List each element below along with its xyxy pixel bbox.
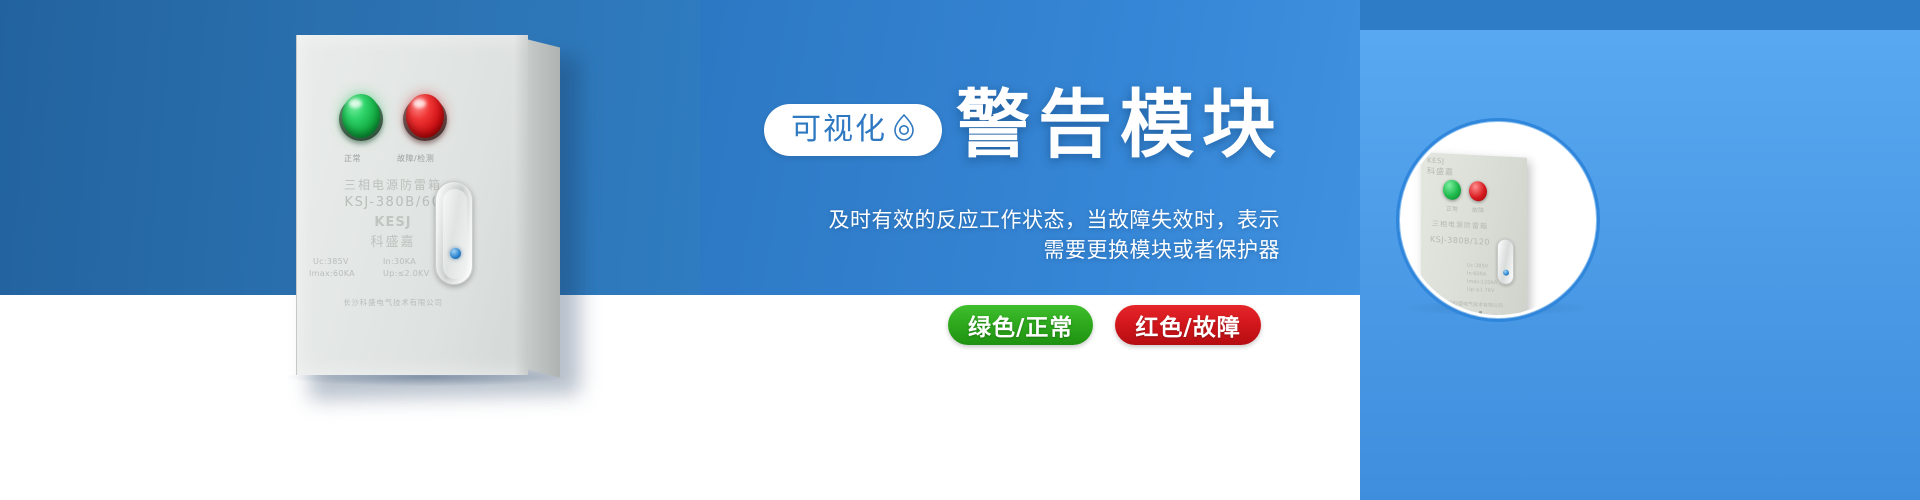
banner-subtitle: 及时有效的反应工作状态，当故障失效时，表示 需要更换模块或者保护器	[620, 205, 1280, 266]
device-module-slot	[435, 181, 473, 285]
status-chip-normal: 绿色/正常	[948, 305, 1093, 345]
inset-spec-in: In:60KA	[1467, 271, 1486, 278]
inset-brand-cn: 科盛嘉	[1427, 166, 1454, 178]
status-chip-group: 绿色/正常 红色/故障	[948, 305, 1261, 345]
inset-lamp-label-normal: 正常	[1439, 203, 1465, 213]
inset-company: 长沙科盛电气技术有限公司	[1423, 298, 1523, 310]
lamp-label-normal: 正常	[344, 153, 361, 164]
inset-spec-up: Up:≤1.7KV	[1467, 287, 1494, 294]
inset-module-slot	[1497, 238, 1514, 285]
promo-banner: 正常 故障/检测 三相电源防雷箱 KSJ-380B/60 KESJ 科盛嘉 Uc…	[0, 0, 1920, 500]
lamp-highlight-red	[413, 99, 426, 108]
lamp-label-fault: 故障/检测	[397, 153, 434, 164]
inset-brand-en: KESJ	[1427, 157, 1445, 166]
inset-product-name: 三相电源防雷箱	[1427, 219, 1493, 232]
inset-slot-indicator	[1503, 270, 1509, 276]
background-blue-right-top	[1360, 0, 1920, 30]
inset-device-front: KESJ 科盛嘉 正常 故障 三相电源防雷箱 KSJ-380B/120 Uc:3…	[1421, 152, 1527, 316]
device-spec-imax: Imax:60KA	[309, 269, 355, 278]
device-side-panel	[524, 39, 560, 378]
inset-lamp-label-fault: 故障	[1465, 205, 1491, 215]
device-spec-up: Up:≤2.0KV	[383, 269, 429, 278]
inset-product-circle: KESJ 科盛嘉 正常 故障 三相电源防雷箱 KSJ-380B/120 Uc:3…	[1400, 122, 1596, 318]
device-spec-uc: Uc:385V	[313, 257, 349, 266]
device-spec-in: In:30KA	[383, 257, 416, 266]
banner-subtitle-line-2: 需要更换模块或者保护器	[620, 235, 1280, 265]
status-chip-fault: 红色/故障	[1115, 305, 1260, 345]
device-front-panel: 正常 故障/检测 三相电源防雷箱 KSJ-380B/60 KESJ 科盛嘉 Uc…	[296, 35, 528, 375]
banner-title: 警告模块	[956, 88, 1284, 162]
inset-spec-imax: Imax:120KA	[1467, 279, 1497, 287]
visualization-badge-label: 可视化	[791, 115, 887, 145]
lamp-highlight-green	[349, 99, 362, 108]
indicator-lamp-green	[339, 93, 383, 141]
banner-subtitle-line-1: 及时有效的反应工作状态，当故障失效时，表示	[620, 205, 1280, 235]
indicator-lamp-red	[403, 93, 447, 141]
device-slot-inner	[443, 189, 467, 279]
inset-model: KSJ-380B/120	[1423, 234, 1497, 247]
inset-spec-uc: Uc:385V	[1467, 263, 1488, 270]
inset-lamp-red	[1469, 181, 1487, 202]
product-device-main: 正常 故障/检测 三相电源防雷箱 KSJ-380B/60 KESJ 科盛嘉 Uc…	[296, 35, 566, 375]
inset-lamp-green	[1443, 179, 1461, 200]
device-slot-indicator	[450, 248, 461, 259]
location-pin-icon	[893, 114, 915, 147]
visualization-badge: 可视化	[764, 104, 942, 156]
device-company: 长沙科盛电气技术有限公司	[305, 297, 481, 308]
